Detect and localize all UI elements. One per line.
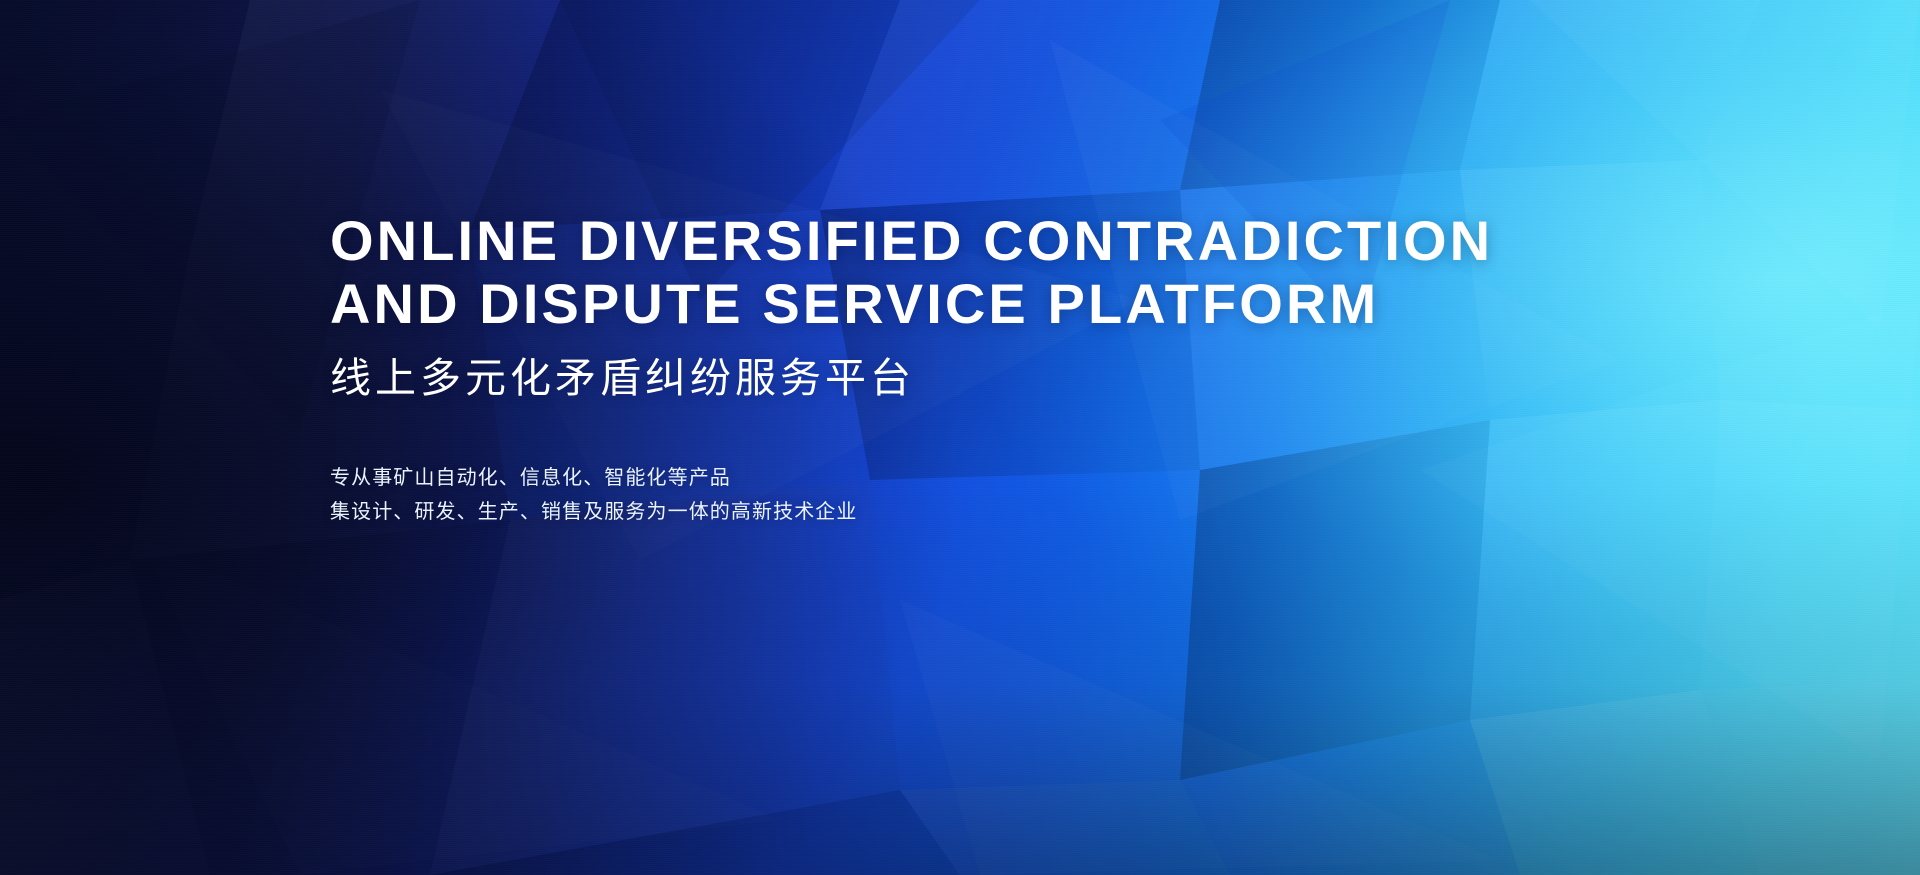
hero-description-line-2: 集设计、研发、生产、销售及服务为一体的高新技术企业 [330,495,1650,529]
hero-content: ONLINE DIVERSIFIED CONTRADICTION AND DIS… [330,210,1650,529]
hero-headline-chinese: 线上多元化矛盾纠纷服务平台 [330,353,1650,404]
hero-description-line-1: 专从事矿山自动化、信息化、智能化等产品 [330,461,1650,495]
hero-description: 专从事矿山自动化、信息化、智能化等产品 集设计、研发、生产、销售及服务为一体的高… [330,461,1650,530]
hero-banner: ONLINE DIVERSIFIED CONTRADICTION AND DIS… [0,0,1920,875]
hero-headline-english: ONLINE DIVERSIFIED CONTRADICTION AND DIS… [330,210,1650,335]
